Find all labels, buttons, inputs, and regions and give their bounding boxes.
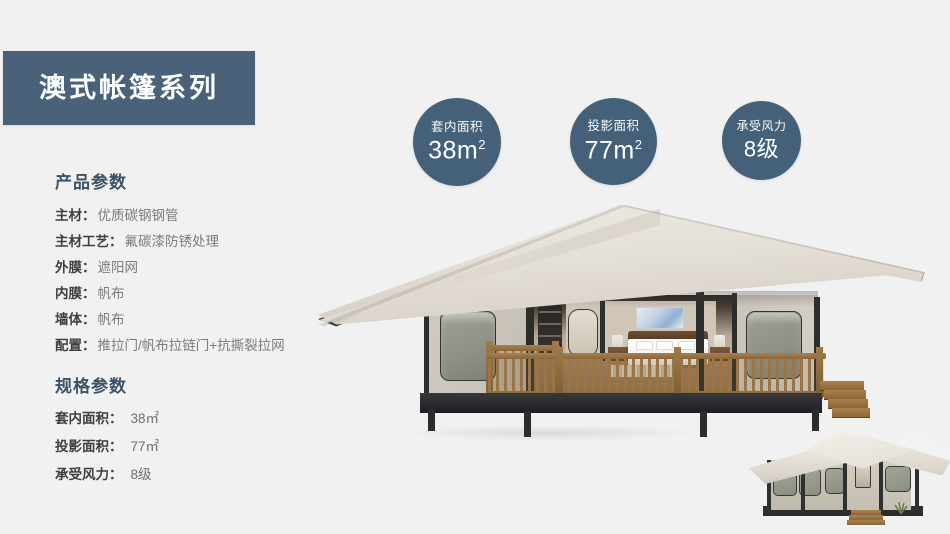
spec-row: 内膜：帆布 (55, 281, 285, 307)
product-params-list: 主材：优质碳钢钢管 主材工艺：氟碳漆防锈处理 外膜：遮阳网 内膜：帆布 墙体：帆… (55, 203, 285, 359)
foundation-leg (700, 411, 707, 437)
spec-row: 配置：推拉门/帆布拉链门+抗撕裂拉网 (55, 333, 285, 359)
inset-window-3 (825, 468, 845, 494)
spec-row: 外膜：遮阳网 (55, 255, 285, 281)
spec-row: 主材工艺：氟碳漆防锈处理 (55, 229, 285, 255)
spec-label: 内膜： (55, 286, 96, 301)
spec-params-heading: 规格参数 (55, 372, 127, 397)
spec-label: 墙体： (55, 312, 96, 327)
interior-artwork (636, 307, 684, 329)
title-text: 澳式帐篷系列 (39, 75, 219, 102)
spec-label: 外膜： (55, 260, 96, 275)
spec-value: 77㎡ (123, 439, 160, 454)
railing-post (556, 347, 563, 399)
spec-params-list: 套内面积：38㎡ 投影面积：77㎡ 承受风力：8级 (55, 405, 159, 489)
badge-label: 套内面积 (431, 121, 483, 134)
inset-step-3 (847, 520, 885, 525)
spec-row: 套内面积：38㎡ (55, 405, 159, 433)
slide-canvas: 澳式帐篷系列 产品参数 主材：优质碳钢钢管 主材工艺：氟碳漆防锈处理 外膜：遮阳… (0, 0, 950, 534)
badge-wind-resistance: 承受风力 8级 (722, 101, 801, 180)
spec-label: 套内面积： (55, 411, 123, 426)
interior-lamp-left (612, 335, 623, 347)
spec-value: 遮阳网 (96, 260, 139, 275)
spec-label: 主材： (55, 208, 96, 223)
product-params-heading: 产品参数 (55, 168, 127, 193)
inset-product-render (745, 418, 950, 534)
spec-label: 配置： (55, 338, 96, 353)
spec-row: 承受风力：8级 (55, 461, 159, 489)
spec-value: 推拉门/帆布拉链门+抗撕裂拉网 (96, 338, 285, 353)
railing-balusters (488, 359, 824, 391)
spec-label: 投影面积： (55, 439, 123, 454)
inset-window-4 (885, 466, 911, 492)
badge-value: 77m2 (585, 138, 643, 163)
interior-pillow-mid (656, 341, 673, 350)
badge-label: 承受风力 (736, 120, 786, 132)
interior-door (568, 309, 598, 357)
badge-interior-area: 套内面积 38m2 (413, 98, 501, 186)
spec-value: 帆布 (96, 312, 125, 327)
inset-plant (891, 492, 911, 519)
spec-value: 8级 (123, 467, 152, 482)
spec-row: 投影面积：77㎡ (55, 433, 159, 461)
title-banner: 澳式帐篷系列 (3, 51, 255, 125)
interior-pillow-left (636, 341, 653, 350)
spec-value: 帆布 (96, 286, 125, 301)
spec-value: 氟碳漆防锈处理 (123, 234, 220, 249)
spec-label: 承受风力： (55, 467, 123, 482)
badge-label: 投影面积 (587, 120, 639, 133)
interior-lamp-right (714, 335, 725, 347)
badge-value: 38m2 (428, 138, 486, 163)
spec-value: 优质碳钢钢管 (96, 208, 179, 223)
main-product-render: SUCCESS TENT (300, 185, 950, 445)
foundation-leg (524, 411, 531, 437)
foundation-leg (428, 409, 435, 431)
spec-value: 38㎡ (123, 411, 160, 426)
deck-stairs (820, 381, 868, 423)
badge-projected-area: 投影面积 77m2 (570, 98, 657, 185)
railing-post (674, 347, 681, 399)
foundation-plinth (420, 393, 822, 413)
badge-value: 8级 (744, 137, 779, 160)
spec-row: 墙体：帆布 (55, 307, 285, 333)
spec-label: 主材工艺： (55, 234, 123, 249)
inset-post-4 (879, 458, 883, 512)
spec-row: 主材：优质碳钢钢管 (55, 203, 285, 229)
